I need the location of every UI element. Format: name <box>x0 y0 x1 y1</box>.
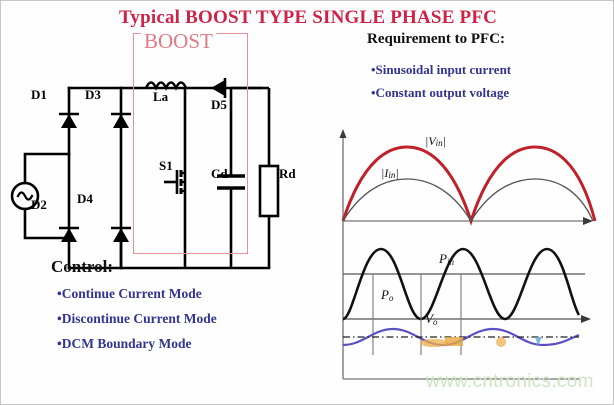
annotation-vo: Vo <box>425 311 438 327</box>
control-item-3: •DCM Boundary Mode <box>57 336 191 352</box>
deco-mark-1 <box>420 339 448 347</box>
annotation-vin: |Vin| <box>425 134 446 148</box>
component-D1 <box>59 114 79 128</box>
watermark: www.cntronics.com <box>426 371 594 393</box>
control-heading: Control: <box>51 257 113 277</box>
ac-source-sine <box>18 193 32 200</box>
label-D4: D4 <box>77 191 93 207</box>
control-item-1: •Continue Current Mode <box>57 286 202 302</box>
label-Cd: Cd <box>211 166 228 182</box>
annotation-iin: |Iin| <box>381 166 399 180</box>
page-title: Typical BOOST TYPE SINGLE PHASE PFC <box>1 7 614 29</box>
plot2-x-arrow <box>581 315 591 323</box>
plot-shared-y-axis <box>340 129 347 379</box>
plot-pin-po: Pin Po <box>343 249 591 323</box>
label-S1: S1 <box>159 158 173 174</box>
annotation-po: Po <box>380 287 394 303</box>
label-D3: D3 <box>85 87 101 103</box>
waveform-plots: |Vin| |Iin| Pin Po Vo <box>329 123 613 398</box>
deco-mark-3 <box>496 337 506 347</box>
annotation-pin: Pin <box>438 251 454 267</box>
component-D2 <box>59 228 79 242</box>
label-Rd: Rd <box>279 166 296 182</box>
requirement-item-1: •Sinusoidal input current <box>371 62 511 78</box>
control-item-2: •Discontinue Current Mode <box>57 311 217 327</box>
plot-vin-iin: |Vin| |Iin| <box>343 134 595 225</box>
label-D2: D2 <box>31 197 47 213</box>
diagram-page: Typical BOOST TYPE SINGLE PHASE PFC <box>0 0 614 405</box>
deco-mark-2 <box>445 337 463 346</box>
boost-region-box <box>133 33 248 254</box>
requirement-heading: Requirement to PFC: <box>367 31 505 48</box>
boost-region-label: BOOST <box>141 31 216 51</box>
label-La: La <box>153 89 168 105</box>
label-D5: D5 <box>211 97 227 113</box>
label-D1: D1 <box>31 87 47 103</box>
requirement-item-2: •Constant output voltage <box>371 85 509 101</box>
component-D3 <box>111 114 131 128</box>
component-D4 <box>111 228 131 242</box>
